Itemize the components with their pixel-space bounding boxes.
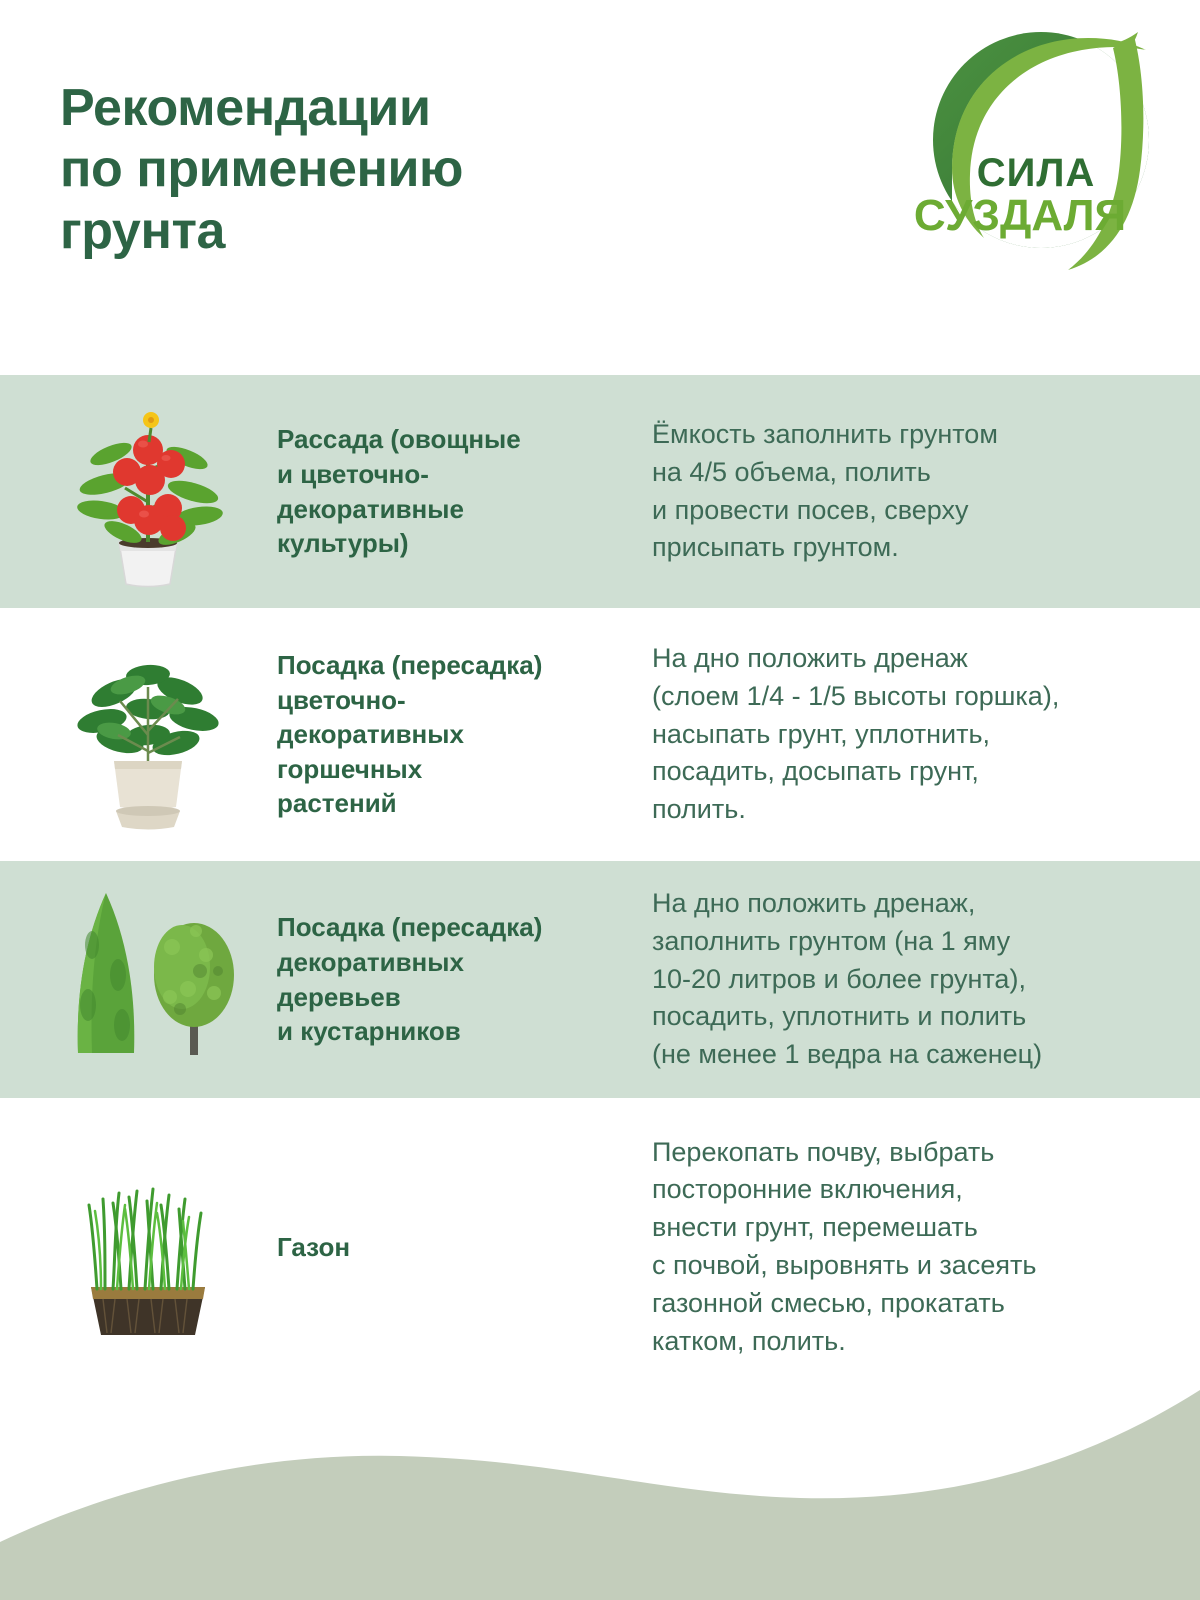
row-title: Рассада (овощные и цветочно- декоративны… bbox=[255, 422, 640, 560]
brand-logo: СИЛА СУЗДАЛЯ bbox=[908, 18, 1178, 283]
logo-text-line1: СИЛА bbox=[977, 151, 1096, 195]
table-row: Посадка (пересадка) цветочно- декоративн… bbox=[0, 608, 1200, 861]
row-title: Посадка (пересадка) декоративных деревье… bbox=[255, 910, 640, 1048]
row-description: На дно положить дренаж, заполнить грунто… bbox=[640, 885, 1160, 1074]
row-description: Ёмкость заполнить грунтом на 4/5 объема,… bbox=[640, 416, 1160, 567]
table-row: Газон Перекопать почву, выбрать посторон… bbox=[0, 1098, 1200, 1396]
potted-plant-icon bbox=[40, 608, 255, 861]
table-row: Рассада (овощные и цветочно- декоративны… bbox=[0, 375, 1200, 608]
table-row: Посадка (пересадка) декоративных деревье… bbox=[0, 861, 1200, 1098]
page-title: Рекомендации по применению грунта bbox=[60, 78, 680, 262]
bottom-wave-decoration bbox=[0, 1370, 1200, 1600]
row-title: Посадка (пересадка) цветочно- декоративн… bbox=[255, 648, 640, 821]
row-description: На дно положить дренаж (слоем 1/4 - 1/5 … bbox=[640, 640, 1160, 829]
tomato-seedling-icon bbox=[40, 375, 255, 608]
infographic-page: Рекомендации по применению грунта bbox=[0, 0, 1200, 1600]
row-title: Газон bbox=[255, 1230, 640, 1265]
page-header: Рекомендации по применению грунта bbox=[0, 0, 1200, 375]
row-description: Перекопать почву, выбрать посторонние вк… bbox=[640, 1134, 1160, 1361]
logo-text-line2: СУЗДАЛЯ bbox=[914, 191, 1126, 240]
recommendation-rows: Рассада (овощные и цветочно- декоративны… bbox=[0, 375, 1200, 1396]
trees-shrubs-icon bbox=[40, 861, 255, 1098]
lawn-turf-icon bbox=[40, 1098, 255, 1396]
